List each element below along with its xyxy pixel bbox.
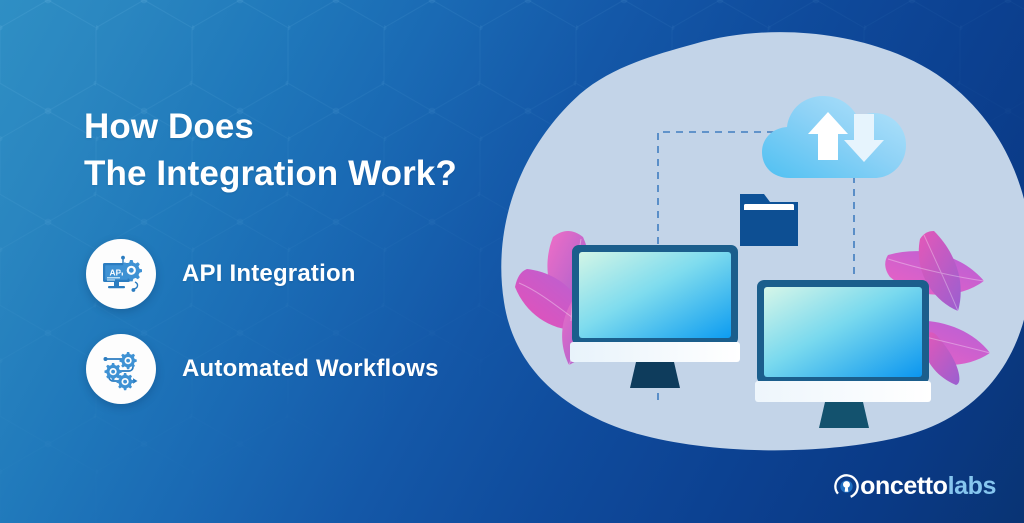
folder-icon <box>738 190 800 248</box>
brand-logo-text: oncettolabs <box>860 474 996 499</box>
concetto-c-monogram-icon <box>834 474 859 499</box>
feature-item-api-integration[interactable]: API API <box>86 237 439 311</box>
feature-icon-badge: API <box>86 239 156 309</box>
feature-label: Automated Workflows <box>182 355 439 383</box>
feature-list: API API <box>86 237 439 427</box>
brand-logo[interactable]: oncettolabs <box>834 474 996 499</box>
feature-label: API Integration <box>182 260 356 288</box>
page-title-line2: The Integration Work? <box>84 151 457 198</box>
api-monitor-gear-icon: API <box>99 252 143 296</box>
workflow-gears-icon <box>99 347 143 391</box>
feature-icon-badge <box>86 334 156 404</box>
desktop-monitor-icon-2 <box>755 278 931 433</box>
cloud-sync-icon <box>762 88 910 184</box>
brand-name-primary: oncetto <box>860 472 947 500</box>
brand-name-secondary: labs <box>948 472 996 500</box>
page-title: How Does The Integration Work? <box>84 104 457 197</box>
svg-text:API: API <box>110 268 124 278</box>
banner-root: How Does The Integration Work? API <box>0 0 1024 523</box>
desktop-monitor-icon-1 <box>570 243 740 393</box>
feature-item-automated-workflows[interactable]: Automated Workflows <box>86 332 439 406</box>
page-title-line1: How Does <box>84 104 457 151</box>
